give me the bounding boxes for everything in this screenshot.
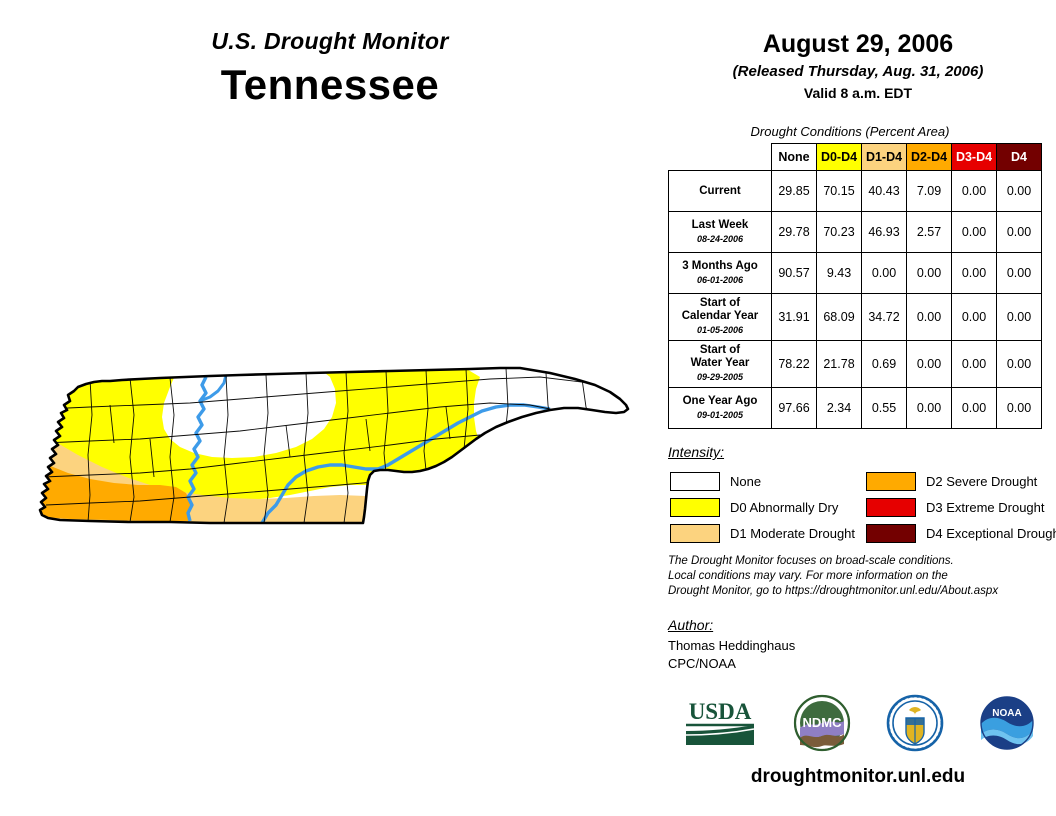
table-cell: 21.78 xyxy=(817,341,862,388)
column-header-d3: D3-D4 xyxy=(952,144,997,171)
program-title: U.S. Drought Monitor xyxy=(0,28,660,55)
table-row: Start ofCalendar Year01-05-200631.9168.0… xyxy=(669,294,1042,341)
row-label-date: 09-01-2005 xyxy=(671,409,769,422)
legend-label: None xyxy=(730,474,761,489)
table-cell: 90.57 xyxy=(772,253,817,294)
table-cell: 29.78 xyxy=(772,212,817,253)
table-row: Current29.8570.1540.437.090.000.00 xyxy=(669,171,1042,212)
legend-swatch xyxy=(866,524,916,543)
row-label: Start ofWater Year09-29-2005 xyxy=(669,341,772,388)
agency-logos: USDA NDMC xyxy=(666,692,1052,758)
legend-label: D0 Abnormally Dry xyxy=(730,500,838,515)
table-cell: 0.00 xyxy=(997,341,1042,388)
table-row: Start ofWater Year09-29-200578.2221.780.… xyxy=(669,341,1042,388)
disclaimer-text: The Drought Monitor focuses on broad-sca… xyxy=(668,554,1048,599)
title-block: U.S. Drought Monitor Tennessee xyxy=(0,28,660,109)
row-label: 3 Months Ago06-01-2006 xyxy=(669,253,772,294)
author-name: Thomas Heddinghaus xyxy=(668,637,795,655)
noaa-logo[interactable]: NOAA xyxy=(978,694,1036,757)
table-cell: 70.15 xyxy=(817,171,862,212)
released-note: (Released Thursday, Aug. 31, 2006) xyxy=(660,63,1056,80)
row-label: Start ofCalendar Year01-05-2006 xyxy=(669,294,772,341)
author-heading: Author: xyxy=(668,617,713,633)
table-cell: 0.00 xyxy=(997,294,1042,341)
tennessee-drought-map[interactable] xyxy=(30,365,640,550)
usda-logo[interactable]: USDA xyxy=(682,695,758,756)
drought-conditions-table: None D0-D4 D1-D4 D2-D4 D3-D4 D4 Current2… xyxy=(668,143,1042,429)
legend-swatch xyxy=(670,524,720,543)
table-cell: 70.23 xyxy=(817,212,862,253)
table-header-row: None D0-D4 D1-D4 D2-D4 D3-D4 D4 xyxy=(669,144,1042,171)
table-cell: 0.00 xyxy=(997,171,1042,212)
row-label: Last Week08-24-2006 xyxy=(669,212,772,253)
table-cell: 0.00 xyxy=(997,253,1042,294)
legend-item: D2 Severe Drought xyxy=(866,468,1056,494)
usdc-seal[interactable] xyxy=(885,694,945,757)
date-block: August 29, 2006 (Released Thursday, Aug.… xyxy=(660,30,1056,101)
row-label-date: 08-24-2006 xyxy=(671,233,769,246)
table-cell: 9.43 xyxy=(817,253,862,294)
table-row: One Year Ago09-01-200597.662.340.550.000… xyxy=(669,388,1042,429)
table-cell: 0.00 xyxy=(862,253,907,294)
svg-text:NDMC: NDMC xyxy=(802,715,842,730)
author-affiliation: CPC/NOAA xyxy=(668,655,795,673)
valid-time: Valid 8 a.m. EDT xyxy=(660,85,1056,101)
table-cell: 0.00 xyxy=(952,253,997,294)
table-cell: 0.00 xyxy=(952,388,997,429)
table-row: Last Week08-24-200629.7870.2346.932.570.… xyxy=(669,212,1042,253)
legend-swatch xyxy=(866,472,916,491)
legend-item: None xyxy=(670,468,855,494)
table-cell: 0.00 xyxy=(907,341,952,388)
legend-label: D1 Moderate Drought xyxy=(730,526,855,541)
table-corner-cell xyxy=(669,144,772,171)
table-cell: 0.00 xyxy=(952,171,997,212)
row-label-date: 09-29-2005 xyxy=(671,371,769,384)
legend-label: D4 Exceptional Drought xyxy=(926,526,1056,541)
disclaimer-line-3: Drought Monitor, go to https://droughtmo… xyxy=(668,584,1048,599)
map-panel: U.S. Drought Monitor Tennessee xyxy=(0,0,660,816)
legend-swatch xyxy=(866,498,916,517)
table-cell: 0.55 xyxy=(862,388,907,429)
table-cell: 0.00 xyxy=(997,388,1042,429)
disclaimer-line-1: The Drought Monitor focuses on broad-sca… xyxy=(668,554,1048,569)
svg-text:USDA: USDA xyxy=(689,699,752,724)
row-label: One Year Ago09-01-2005 xyxy=(669,388,772,429)
legend-item: D3 Extreme Drought xyxy=(866,494,1056,520)
table-cell: 0.00 xyxy=(907,253,952,294)
table-cell: 78.22 xyxy=(772,341,817,388)
table-cell: 2.57 xyxy=(907,212,952,253)
table-cell: 0.00 xyxy=(952,341,997,388)
table-cell: 0.69 xyxy=(862,341,907,388)
table-caption: Drought Conditions (Percent Area) xyxy=(660,124,1040,139)
column-header-none: None xyxy=(772,144,817,171)
table-cell: 0.00 xyxy=(907,294,952,341)
table-row: 3 Months Ago06-01-200690.579.430.000.000… xyxy=(669,253,1042,294)
legend-item: D4 Exceptional Drought xyxy=(866,520,1056,546)
table-cell: 0.00 xyxy=(952,212,997,253)
legend-item: D0 Abnormally Dry xyxy=(670,494,855,520)
site-url[interactable]: droughtmonitor.unl.edu xyxy=(660,766,1056,788)
info-panel: August 29, 2006 (Released Thursday, Aug.… xyxy=(660,0,1056,816)
table-cell: 7.09 xyxy=(907,171,952,212)
svg-text:NOAA: NOAA xyxy=(992,708,1021,719)
table-cell: 31.91 xyxy=(772,294,817,341)
intensity-heading: Intensity: xyxy=(668,444,724,460)
table-cell: 0.00 xyxy=(997,212,1042,253)
legend-swatch xyxy=(670,498,720,517)
author-block: Thomas Heddinghaus CPC/NOAA xyxy=(668,637,795,673)
table-cell: 68.09 xyxy=(817,294,862,341)
release-date: August 29, 2006 xyxy=(660,30,1056,59)
column-header-d2: D2-D4 xyxy=(907,144,952,171)
table-cell: 97.66 xyxy=(772,388,817,429)
legend-column-left: NoneD0 Abnormally DryD1 Moderate Drought xyxy=(670,468,855,546)
legend-label: D3 Extreme Drought xyxy=(926,500,1045,515)
table-cell: 2.34 xyxy=(817,388,862,429)
table-cell: 34.72 xyxy=(862,294,907,341)
legend-label: D2 Severe Drought xyxy=(926,474,1037,489)
ndmc-logo[interactable]: NDMC xyxy=(791,694,853,757)
legend-column-right: D2 Severe DroughtD3 Extreme DroughtD4 Ex… xyxy=(866,468,1056,546)
row-label: Current xyxy=(669,171,772,212)
legend-item: D1 Moderate Drought xyxy=(670,520,855,546)
table-cell: 0.00 xyxy=(907,388,952,429)
disclaimer-line-2: Local conditions may vary. For more info… xyxy=(668,569,1048,584)
table-cell: 29.85 xyxy=(772,171,817,212)
row-label-date: 01-05-2006 xyxy=(671,324,769,337)
table-cell: 40.43 xyxy=(862,171,907,212)
column-header-d0: D0-D4 xyxy=(817,144,862,171)
table-cell: 46.93 xyxy=(862,212,907,253)
legend-swatch xyxy=(670,472,720,491)
column-header-d4: D4 xyxy=(997,144,1042,171)
state-title: Tennessee xyxy=(0,61,660,109)
table-cell: 0.00 xyxy=(952,294,997,341)
row-label-date: 06-01-2006 xyxy=(671,274,769,287)
column-header-d1: D1-D4 xyxy=(862,144,907,171)
